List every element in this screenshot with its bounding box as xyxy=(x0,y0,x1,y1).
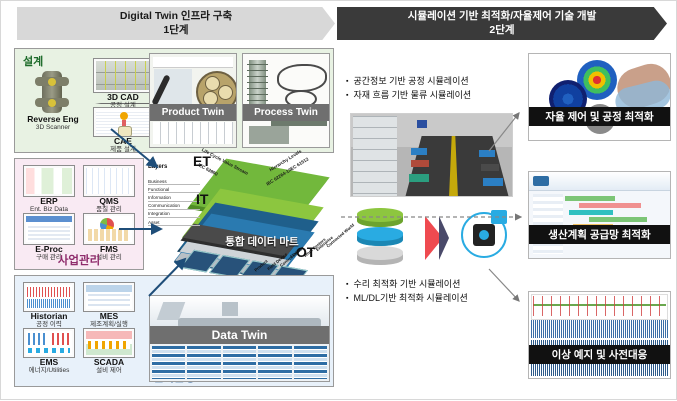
bullet-item: 자재 흐름 기반 물류 시뮬레이션 xyxy=(346,89,471,103)
analytics-chart-icon xyxy=(491,210,507,224)
database-green-icon xyxy=(357,208,403,227)
thumb-qms xyxy=(83,165,135,197)
layer-item: Communication xyxy=(148,202,200,210)
thumb-mes xyxy=(83,282,135,312)
thumb-erp xyxy=(23,165,75,197)
layer-item: Integration xyxy=(148,210,200,218)
bullet-item: 공간정보 기반 공정 시뮬레이션 xyxy=(346,75,471,89)
database-gray-icon xyxy=(357,246,403,265)
layer-item: Asset xyxy=(148,218,200,226)
caption-reverse-eng: Reverse Eng 3D Scanner xyxy=(15,115,91,131)
process-twin-label: Process Twin xyxy=(243,104,329,121)
thumb-historian xyxy=(23,282,75,312)
panel-business: ERP Ent. Biz Data QMS 품질 관리 E-Proc 구매 관리… xyxy=(14,158,144,270)
panel-design-title: 설계 xyxy=(23,53,43,69)
card-data-twin: Data Twin xyxy=(149,295,330,382)
arrow-to-card3 xyxy=(489,269,519,301)
thumb-eproc xyxy=(23,213,75,245)
card-supply-chain-label: 생산계획 공급망 최적화 xyxy=(529,225,670,244)
thumb-fms xyxy=(83,213,135,245)
panel-business-title: 사업관리 xyxy=(15,252,143,268)
caption-cae: CAE 제품 설계 xyxy=(93,137,153,153)
bullets-top: 공간정보 기반 공정 시뮬레이션 자재 흐름 기반 물류 시뮬레이션 xyxy=(346,75,471,103)
layers-heading: Layers xyxy=(148,164,167,170)
database-blue-icon xyxy=(357,227,403,246)
stage1-label: Digital Twin 인프라 구축 1단계 xyxy=(120,10,232,37)
arrow-chevron-shadow-icon xyxy=(439,216,449,260)
data-twin-label: Data Twin xyxy=(150,326,329,344)
traffic-simulation-image xyxy=(350,113,513,197)
stage2-label: 시뮬레이션 기반 최적화/자율제어 기술 개발 2단계 xyxy=(408,10,596,37)
it-label: IT xyxy=(196,191,208,207)
stage1-banner: Digital Twin 인프라 구축 1단계 xyxy=(17,7,335,40)
card-anomaly-prediction: 이상 예지 및 사전대응 xyxy=(528,291,671,379)
thumb-ems xyxy=(23,328,75,358)
card-supply-chain: 생산계획 공급망 최적화 xyxy=(528,171,671,259)
caption-qms: QMS 품질 관리 xyxy=(81,197,137,213)
thumb-scada xyxy=(83,328,135,358)
diagram-canvas: Digital Twin 인프라 구축 1단계 시뮬레이션 기반 최적화/자율제… xyxy=(1,1,676,399)
layer-item: Business xyxy=(148,177,200,185)
card-autonomous-control-label: 자율 제어 및 공정 최적화 xyxy=(529,107,670,126)
bullet-item: ML/DL기반 최적화 시뮬레이션 xyxy=(346,292,468,306)
caption-mes: MES 제조계획/실행 xyxy=(81,312,137,328)
layer-item: Functional xyxy=(148,185,200,193)
card-product-twin: Product Twin xyxy=(149,53,237,148)
layer-item: Information xyxy=(148,193,200,201)
caption-historian: Historian 공정 이력 xyxy=(21,312,77,328)
layers-list: Business Functional Information Communic… xyxy=(148,177,200,226)
stage2-banner: 시뮬레이션 기반 최적화/자율제어 기술 개발 2단계 xyxy=(337,7,667,40)
bullets-bottom: 수리 최적화 기반 시뮬레이션 ML/DL기반 최적화 시뮬레이션 xyxy=(346,278,468,306)
bullet-item: 수리 최적화 기반 시뮬레이션 xyxy=(346,278,468,292)
product-twin-label: Product Twin xyxy=(150,104,236,121)
card-autonomous-control: 자율 제어 및 공정 최적화 xyxy=(528,53,671,141)
caption-erp: ERP Ent. Biz Data xyxy=(21,197,77,213)
data-to-ai-icon-group xyxy=(353,206,513,270)
cpu-chip-icon xyxy=(473,224,495,246)
card-anomaly-prediction-label: 이상 예지 및 사전대응 xyxy=(529,345,670,364)
thumb-cae xyxy=(93,107,153,137)
thumb-reverse-eng xyxy=(33,69,71,115)
thumb-3d-cad xyxy=(93,58,153,93)
card-process-twin: Process Twin xyxy=(242,53,330,148)
